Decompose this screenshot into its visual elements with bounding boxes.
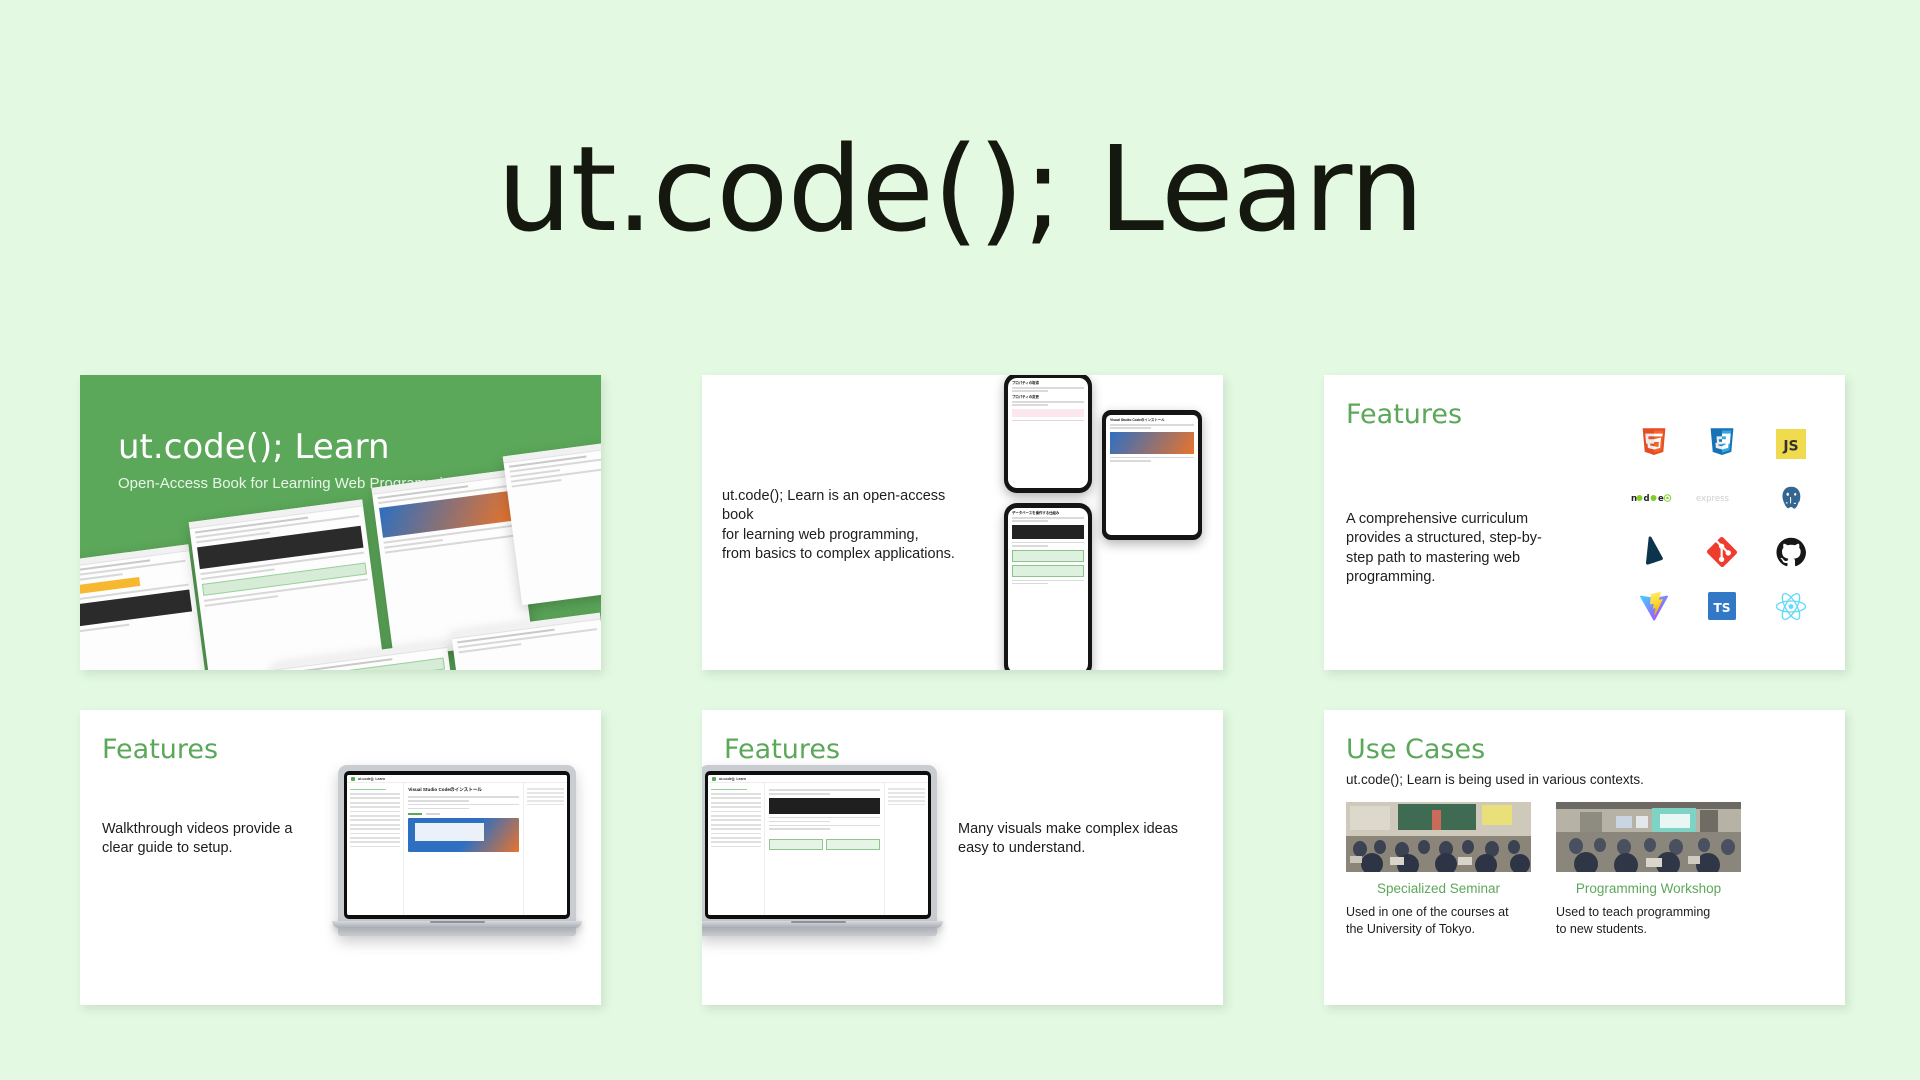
card-row-2: Features Walkthrough videos provide a cl… — [80, 710, 1850, 1005]
svg-text:n: n — [1631, 494, 1637, 504]
use-case-item[interactable]: Specialized Seminar Used in one of the c… — [1346, 802, 1531, 938]
use-case-list: Specialized Seminar Used in one of the c… — [1346, 802, 1741, 938]
card-body: Many visuals make complex ideas easy to … — [958, 820, 1188, 859]
git-icon — [1705, 535, 1739, 569]
prisma-icon — [1637, 535, 1671, 569]
postgresql-icon — [1774, 481, 1808, 515]
javascript-icon: JS — [1774, 427, 1808, 461]
hero-screenshot-collage — [80, 500, 601, 670]
phone-mockup: データベースを操作する仕組み — [1004, 503, 1092, 670]
screenshot-thumb — [80, 544, 207, 670]
workshop-photo — [1556, 802, 1741, 872]
laptop-mockup: ut.code(); Learn Visual Studio Codeのインスト… — [338, 765, 576, 936]
use-cases-intro: ut.code(); Learn is being used in variou… — [1346, 772, 1644, 787]
use-case-caption: Specialized Seminar — [1346, 881, 1531, 896]
card-heading: Features — [102, 734, 218, 765]
html5-icon — [1637, 427, 1671, 461]
card-features-videos[interactable]: Features Walkthrough videos provide a cl… — [80, 710, 601, 1005]
css3-icon — [1705, 427, 1739, 461]
use-case-caption: Programming Workshop — [1556, 881, 1741, 896]
card-hero[interactable]: ut.code(); Learn Open-Access Book for Le… — [80, 375, 601, 670]
laptop-mockup: ut.code(); Learn キー — [702, 765, 937, 936]
page-title: ut.code(); Learn — [0, 130, 1920, 248]
svg-text:TS: TS — [1714, 601, 1731, 615]
express-icon: express — [1696, 481, 1748, 515]
use-case-description: Used in one of the courses at the Univer… — [1346, 904, 1531, 938]
card-body: A comprehensive curriculum provides a st… — [1346, 510, 1546, 587]
use-case-description: Used to teach programming to new student… — [1556, 904, 1741, 938]
tech-logo-grid: JS nde express — [1620, 427, 1825, 623]
seminar-photo — [1346, 802, 1531, 872]
phone-mockup: プロパティの取得 プロパティの変更 — [1004, 375, 1092, 493]
card-intro[interactable]: ut.code(); Learn is an open-access book … — [702, 375, 1223, 670]
tablet-mockup: Visual Studio Codeのインストール — [1102, 410, 1202, 540]
nodejs-icon: nde — [1631, 481, 1677, 515]
card-features-visuals[interactable]: Features Many visuals make complex ideas… — [702, 710, 1223, 1005]
card-features-curriculum[interactable]: Features A comprehensive curriculum prov… — [1324, 375, 1845, 670]
svg-text:e: e — [1658, 494, 1664, 504]
typescript-icon: TS — [1705, 589, 1739, 623]
svg-text:express: express — [1696, 494, 1729, 504]
card-row-1: ut.code(); Learn Open-Access Book for Le… — [80, 375, 1850, 670]
github-icon — [1774, 535, 1808, 569]
card-body: Walkthrough videos provide a clear guide… — [102, 820, 302, 859]
device-mockups: プロパティの取得 プロパティの変更 データベースを操作する仕組み Visual … — [998, 375, 1223, 670]
use-case-item[interactable]: Programming Workshop Used to teach progr… — [1556, 802, 1741, 938]
screenshot-thumb — [189, 499, 387, 670]
svg-text:d: d — [1644, 494, 1650, 504]
card-intro-body: ut.code(); Learn is an open-access book … — [722, 487, 962, 564]
card-grid: ut.code(); Learn Open-Access Book for Le… — [80, 375, 1850, 1045]
hero-title: ut.code(); Learn — [118, 427, 390, 467]
presentation-page: ut.code(); Learn ut.code(); Learn Open-A… — [0, 0, 1920, 1080]
react-icon — [1774, 589, 1808, 623]
card-heading: Features — [724, 734, 840, 765]
vite-icon — [1637, 589, 1671, 623]
card-use-cases[interactable]: Use Cases ut.code(); Learn is being used… — [1324, 710, 1845, 1005]
card-heading: Features — [1346, 399, 1462, 430]
svg-text:JS: JS — [1782, 439, 1798, 455]
card-heading: Use Cases — [1346, 734, 1485, 765]
